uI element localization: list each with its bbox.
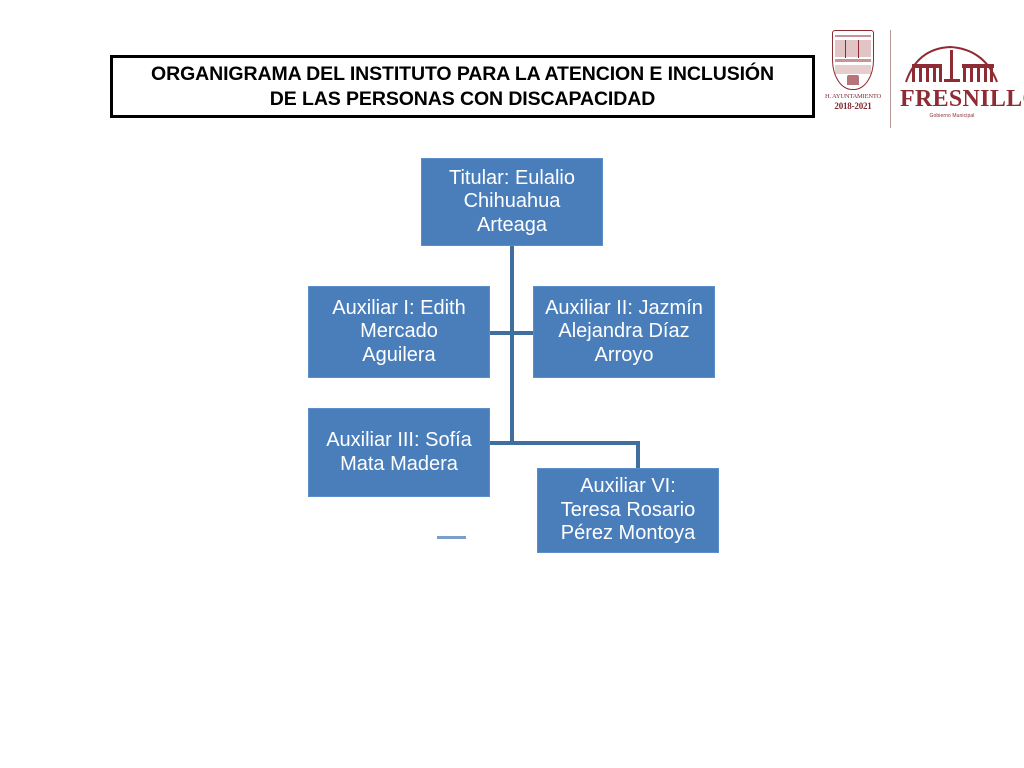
org-node-label: Auxiliar III: Sofía Mata Madera [326, 429, 472, 476]
fresnillo-wordmark: FRESNILLO [900, 87, 1004, 111]
org-node-label: Auxiliar II: Jazmín Alejandra Díaz Arroy… [545, 297, 703, 368]
org-node-auxiliar-i[interactable]: Auxiliar I: Edith Mercado Aguilera [308, 286, 490, 378]
crest-caption: H. AYUNTAMIENTO [825, 93, 881, 101]
connector-aux1-aux2-horizontal [488, 331, 535, 335]
connector-trunk-vertical [510, 246, 514, 445]
fresnillo-tagline: Gobierno Municipal [900, 113, 1004, 119]
org-node-auxiliar-iii[interactable]: Auxiliar III: Sofía Mata Madera [308, 408, 490, 497]
org-node-label: Auxiliar VI: Teresa Rosario Pérez Montoy… [561, 475, 696, 546]
org-node-label: Titular: Eulalio Chihuahua Arteaga [449, 167, 575, 238]
logo-divider [890, 30, 891, 128]
ayuntamiento-crest-logo: H. AYUNTAMIENTO 2018-2021 [824, 24, 882, 136]
fresnillo-aqueduct-icon [900, 42, 1004, 86]
fresnillo-logo: FRESNILLO Gobierno Municipal [900, 42, 1004, 126]
org-node-titular[interactable]: Titular: Eulalio Chihuahua Arteaga [421, 158, 603, 246]
crest-year: 2018-2021 [834, 101, 871, 111]
slide-canvas: ORGANIGRAMA DEL INSTITUTO PARA LA ATENCI… [0, 0, 1024, 768]
page-title: ORGANIGRAMA DEL INSTITUTO PARA LA ATENCI… [151, 62, 774, 112]
connector-orphan-dash [437, 536, 466, 539]
chart-title-box: ORGANIGRAMA DEL INSTITUTO PARA LA ATENCI… [110, 55, 815, 118]
logo-area: H. AYUNTAMIENTO 2018-2021 [824, 24, 1004, 136]
connector-aux6-vertical [636, 441, 640, 469]
org-node-label: Auxiliar I: Edith Mercado Aguilera [332, 297, 465, 368]
org-node-auxiliar-vi[interactable]: Auxiliar VI: Teresa Rosario Pérez Montoy… [537, 468, 719, 553]
coat-of-arms-shield-icon [832, 30, 874, 90]
connector-aux6-horizontal [510, 441, 640, 445]
org-node-auxiliar-ii[interactable]: Auxiliar II: Jazmín Alejandra Díaz Arroy… [533, 286, 715, 378]
